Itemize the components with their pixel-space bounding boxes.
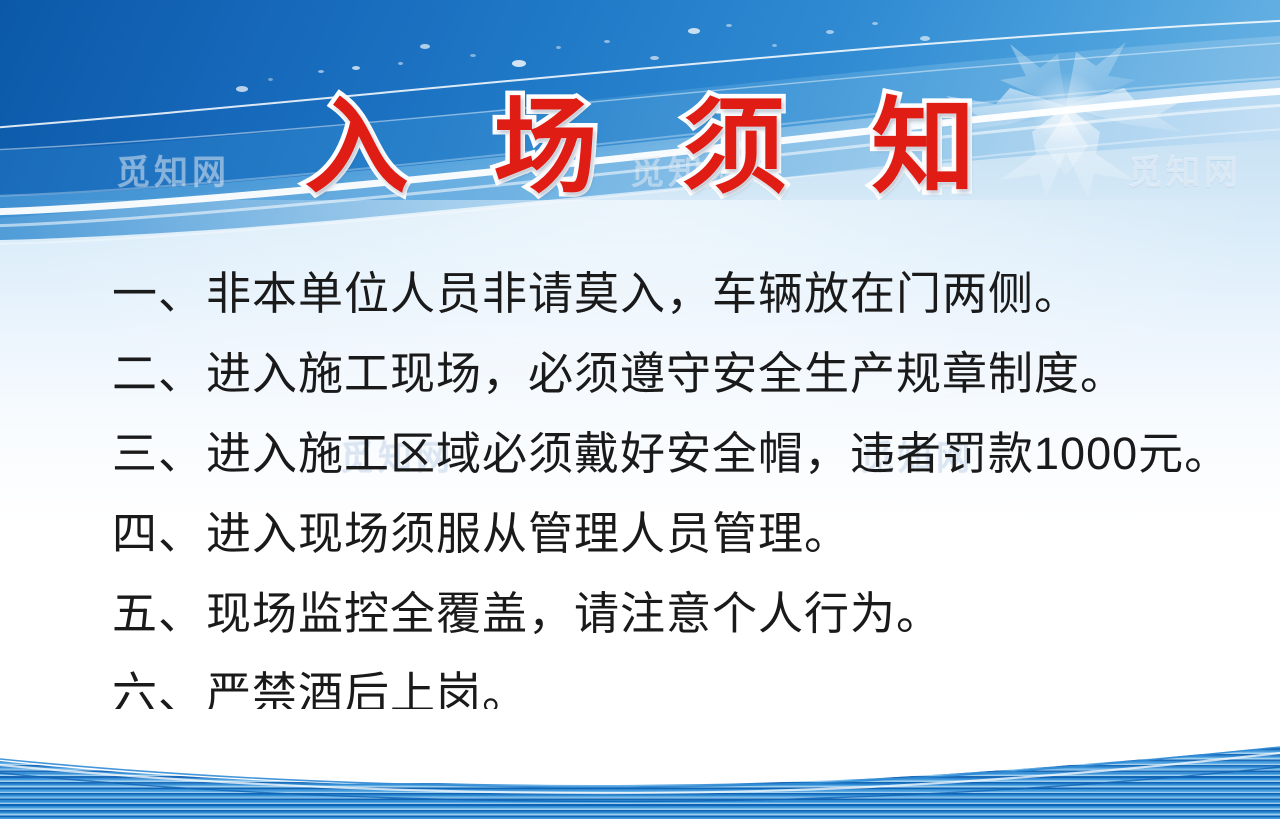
rule-text: 现场监控全覆盖，请注意个人行为。 [206, 588, 942, 639]
title-container: 入 场 须 知 [0, 92, 1280, 204]
rule-number: 二、 [112, 348, 204, 399]
rule-number: 四、 [112, 508, 204, 559]
rule-text: 进入施工区域必须戴好安全帽，违者罚款1000元。 [206, 428, 1230, 479]
rule-item: 三、进入施工区域必须戴好安全帽，违者罚款1000元。 [112, 414, 1242, 494]
rule-text: 非本单位人员非请莫入，车辆放在门两侧。 [206, 268, 1080, 319]
rule-text: 进入现场须服从管理人员管理。 [206, 508, 850, 559]
page-title: 入 场 须 知 [277, 92, 1004, 204]
rule-item: 二、进入施工现场，必须遵守安全生产规章制度。 [112, 334, 1242, 414]
rule-text: 进入施工现场，必须遵守安全生产规章制度。 [206, 348, 1126, 399]
rule-item: 四、进入现场须服从管理人员管理。 [112, 494, 1242, 574]
rule-item: 五、现场监控全覆盖，请注意个人行为。 [112, 574, 1242, 654]
bottom-wave-decoration: 觅知网 觅知网 觅知网 [0, 709, 1280, 819]
rule-number: 五、 [112, 588, 204, 639]
rules-list: 一、非本单位人员非请莫入，车辆放在门两侧。 二、进入施工现场，必须遵守安全生产规… [112, 254, 1242, 734]
rule-number: 三、 [112, 428, 204, 479]
poster-canvas: 觅知网 觅知网 觅知网 入 场 须 知 觅知网 觅知网 一、非本单位人员非请莫入… [0, 0, 1280, 819]
rule-item: 一、非本单位人员非请莫入，车辆放在门两侧。 [112, 254, 1242, 334]
rule-number: 一、 [112, 268, 204, 319]
